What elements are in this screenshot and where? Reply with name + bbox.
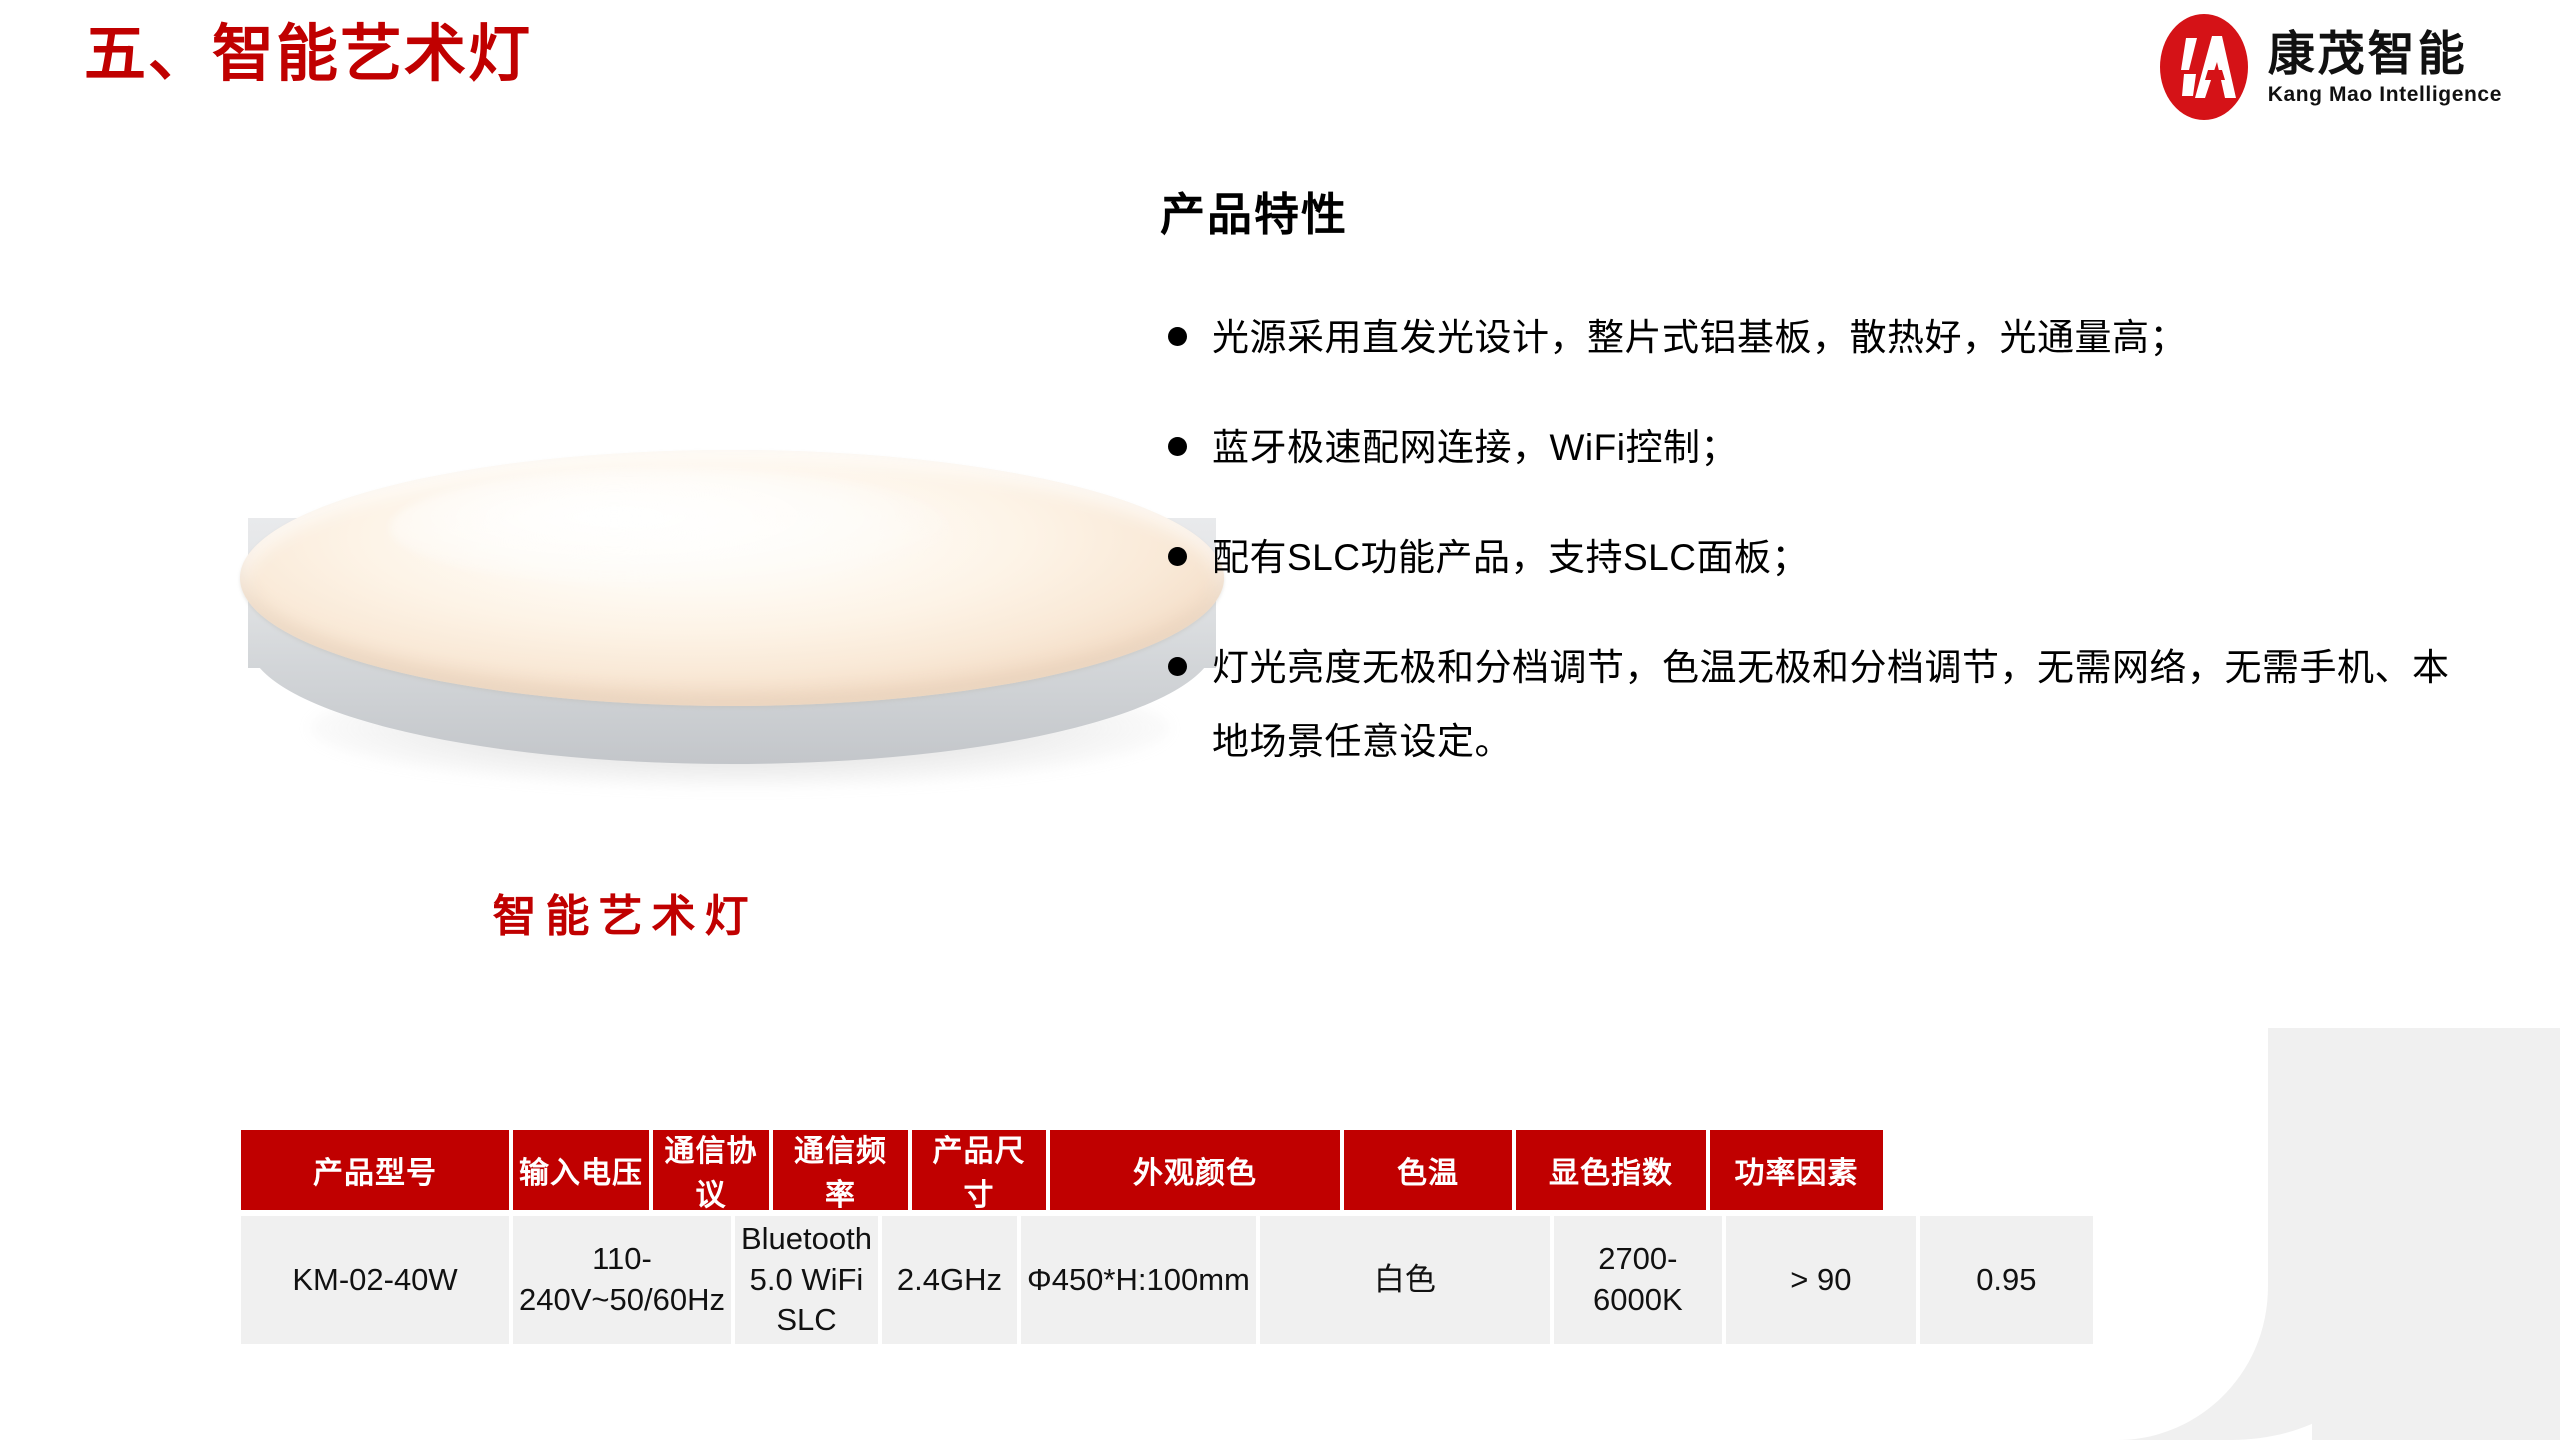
feature-item: 灯光亮度无极和分档调节，色温无极和分档调节，无需网络，无需手机、本地场景任意设定… xyxy=(1150,631,2480,779)
page-title: 五、智能艺术灯 xyxy=(84,16,532,94)
table-cell: 2.4GHz xyxy=(882,1216,1017,1344)
table-header-cell: 产品型号 xyxy=(241,1130,509,1210)
lamp-specular-highlight xyxy=(390,468,950,588)
feature-item-text: 灯光亮度无极和分档调节，色温无极和分档调节，无需网络，无需手机、本地场景任意设定… xyxy=(1212,647,2450,762)
round-ceiling-lamp-photo xyxy=(240,450,1240,780)
table-cell: KM-02-40W xyxy=(241,1216,509,1344)
table-cell: 2700-6000K xyxy=(1554,1216,1722,1344)
table-header-cell: 输入电压 xyxy=(513,1130,649,1210)
filled-circle-bullet-icon xyxy=(1168,547,1187,566)
decor-rectangle-shape xyxy=(2312,1028,2560,1440)
features-list: 光源采用直发光设计，整片式铝基板，散热好，光通量高； 蓝牙极速配网连接，WiFi… xyxy=(1150,301,2480,779)
feature-item-text: 光源采用直发光设计，整片式铝基板，散热好，光通量高； xyxy=(1212,317,2187,358)
kangmao-oval-logo-icon xyxy=(2156,12,2252,122)
table-row: KM-02-40W 110-240V~50/60Hz Bluetooth 5.0… xyxy=(241,1216,2319,1344)
table-header-cell: 功率因素 xyxy=(1710,1130,1883,1210)
table-cell: Bluetooth 5.0 WiFi SLC xyxy=(735,1216,878,1344)
feature-item: 配有SLC功能产品，支持SLC面板； xyxy=(1150,521,2480,595)
feature-item-text: 蓝牙极速配网连接，WiFi控制； xyxy=(1212,427,1738,468)
brand-name-en: Kang Mao Intelligence xyxy=(2268,81,2502,109)
product-caption: 智能艺术灯 xyxy=(0,880,1250,944)
filled-circle-bullet-icon xyxy=(1168,437,1187,456)
table-cell: 白色 xyxy=(1260,1216,1550,1344)
table-header-cell: 通信频率 xyxy=(773,1130,908,1210)
feature-item: 光源采用直发光设计，整片式铝基板，散热好，光通量高； xyxy=(1150,301,2480,375)
features-panel: 产品特性 光源采用直发光设计，整片式铝基板，散热好，光通量高； 蓝牙极速配网连接… xyxy=(1150,178,2480,815)
product-image xyxy=(160,430,1250,830)
table-header-cell: 产品尺寸 xyxy=(912,1130,1046,1210)
table-header-row: 产品型号 输入电压 通信协议 通信频率 产品尺寸 外观颜色 色温 显色指数 功率… xyxy=(241,1130,2319,1210)
table-cell: > 90 xyxy=(1726,1216,1916,1344)
brand-logo: 康茂智能 Kang Mao Intelligence xyxy=(2156,12,2502,122)
filled-circle-bullet-icon xyxy=(1168,657,1187,676)
table-header-cell: 通信协议 xyxy=(653,1130,769,1210)
filled-circle-bullet-icon xyxy=(1168,327,1187,346)
features-title: 产品特性 xyxy=(1160,178,2480,243)
feature-item: 蓝牙极速配网连接，WiFi控制； xyxy=(1150,411,2480,485)
table-cell: 110-240V~50/60Hz xyxy=(513,1216,731,1344)
table-cell: Φ450*H:100mm xyxy=(1021,1216,1256,1344)
table-cell: 0.95 xyxy=(1920,1216,2093,1344)
table-header-cell: 外观颜色 xyxy=(1050,1130,1340,1210)
brand-text-block: 康茂智能 Kang Mao Intelligence xyxy=(2268,25,2502,109)
table-header-cell: 显色指数 xyxy=(1516,1130,1706,1210)
brand-name-cn: 康茂智能 xyxy=(2268,29,2502,78)
feature-item-text: 配有SLC功能产品，支持SLC面板； xyxy=(1212,537,1809,578)
spec-table: 产品型号 输入电压 通信协议 通信频率 产品尺寸 外观颜色 色温 显色指数 功率… xyxy=(241,1130,2319,1344)
slide-root: 五、智能艺术灯 康茂智能 Kang Mao Intelligence 智能艺术灯… xyxy=(0,0,2560,1440)
table-header-cell: 色温 xyxy=(1344,1130,1512,1210)
